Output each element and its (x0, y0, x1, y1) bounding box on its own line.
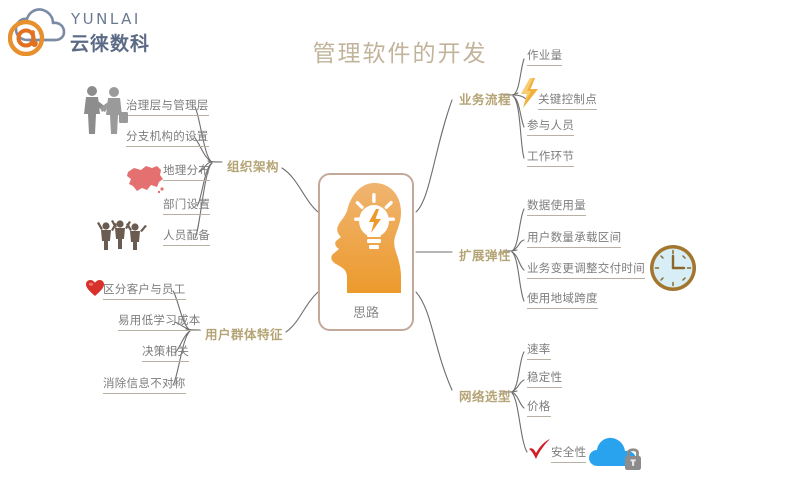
leaf-stability[interactable]: 稳定性 (527, 369, 562, 388)
center-node[interactable]: 思路 (318, 173, 414, 331)
leaf-geographic-span[interactable]: 使用地域跨度 (527, 290, 598, 309)
lightning-bolt-icon (518, 78, 540, 108)
leaf-workload[interactable]: 作业量 (527, 47, 562, 66)
leaf-data-usage[interactable]: 数据使用量 (527, 197, 586, 216)
leaf-user-capacity-range[interactable]: 用户数量承载区间 (527, 229, 621, 248)
clock-icon (648, 243, 698, 293)
cheering-people-icon (97, 218, 153, 252)
leaf-easy-low-learning-cost[interactable]: 易用低学习成本 (118, 312, 201, 331)
handshake-people-icon (76, 84, 134, 136)
branch-label-user-group-traits[interactable]: 用户群体特征 (205, 324, 283, 343)
branch-label-network-selection[interactable]: 网络选型 (459, 386, 511, 405)
leaf-eliminate-info-asymmetry[interactable]: 消除信息不对称 (103, 375, 186, 394)
branch-label-business-process[interactable]: 业务流程 (459, 89, 511, 108)
branch-label-scalability[interactable]: 扩展弹性 (459, 245, 511, 264)
leaf-branch-office-setup[interactable]: 分支机构的设置 (126, 128, 209, 147)
leaf-distinguish-customer-employee[interactable]: 区分客户与员工 (103, 281, 186, 300)
leaf-participants[interactable]: 参与人员 (527, 117, 574, 136)
head-lightbulb-icon (327, 181, 405, 297)
branch-label-org-structure[interactable]: 组织架构 (227, 156, 279, 175)
leaf-work-links[interactable]: 工作环节 (527, 148, 574, 167)
leaf-staffing[interactable]: 人员配备 (163, 227, 210, 246)
mindmap-canvas: YUNLAI 云徕数科 管理软件的开发 (0, 0, 800, 480)
leaf-speed-rate[interactable]: 速率 (527, 341, 551, 360)
leaf-change-delivery-time[interactable]: 业务变更调整交付时间 (527, 260, 645, 279)
leaf-decision-relevance[interactable]: 决策相关 (142, 343, 189, 362)
red-check-icon (527, 438, 551, 460)
leaf-security[interactable]: 安全性 (551, 444, 586, 463)
center-node-label: 思路 (320, 302, 412, 321)
leaf-governance-management[interactable]: 治理层与管理层 (126, 97, 209, 116)
heart-icon (85, 279, 105, 297)
china-map-icon (124, 163, 166, 195)
leaf-geographic-distribution[interactable]: 地理分布 (163, 162, 210, 181)
leaf-price[interactable]: 价格 (527, 398, 551, 417)
cloud-lock-icon (589, 432, 647, 476)
leaf-key-control-points[interactable]: 关键控制点 (538, 91, 597, 110)
leaf-department-setup[interactable]: 部门设置 (163, 196, 210, 215)
